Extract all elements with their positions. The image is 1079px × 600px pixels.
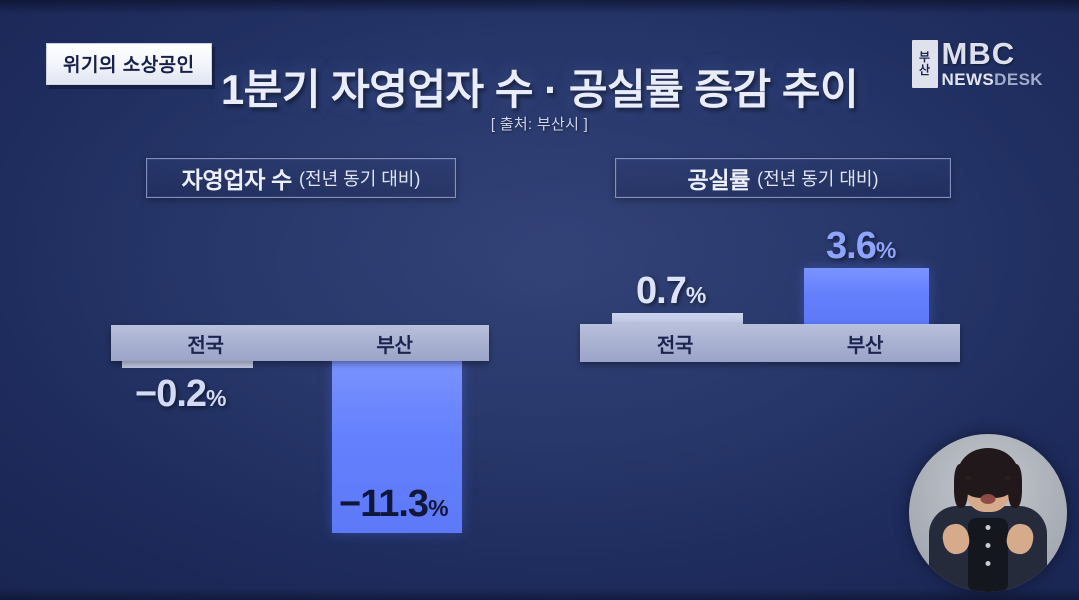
value-number: 0.7	[636, 270, 686, 312]
panel-header-sub: (전년 동기 대비)	[299, 165, 420, 191]
panel-header-strong: 자영업자 수	[182, 161, 292, 195]
bar-self-employed-nationwide	[122, 360, 253, 368]
value-percent: %	[686, 282, 706, 308]
interpreter-eye-left	[965, 476, 972, 480]
interpreter-button	[986, 561, 991, 566]
axis-label-nationwide: 전국	[580, 324, 770, 362]
value-number: 3.6	[826, 225, 876, 267]
value-percent: %	[206, 385, 226, 411]
value-number: −0.2	[135, 373, 206, 415]
interpreter-button	[986, 525, 991, 530]
source-credit: [ 출처: 부산시 ]	[0, 113, 1079, 134]
value-label-vacancy-nationwide: 0.7%	[636, 272, 706, 310]
value-percent: %	[876, 237, 896, 263]
panel-header-strong: 공실률	[688, 161, 751, 195]
axis-label-busan: 부산	[300, 325, 489, 361]
axis-strip-vacancy-rate: 전국 부산	[580, 324, 960, 362]
axis-strip-self-employed: 전국 부산	[111, 325, 489, 361]
value-number: −11.3	[339, 483, 428, 525]
sign-language-interpreter-overlay	[909, 434, 1067, 592]
logo-text: MBC NEWSDESK	[942, 40, 1043, 88]
region-badge: 부 산	[912, 40, 938, 88]
broadcast-graphic-screen: 위기의 소상공인 1분기 자영업자 수 · 공실률 증감 추이 [ 출처: 부산…	[0, 0, 1079, 600]
region-badge-line2: 산	[919, 64, 930, 77]
panel-header-sub: (전년 동기 대비)	[757, 165, 878, 191]
panel-header-self-employed: 자영업자 수 (전년 동기 대비)	[146, 158, 456, 198]
value-label-self-employed-nationwide: −0.2%	[135, 375, 226, 413]
network-logo: 부 산 MBC NEWSDESK	[912, 40, 1043, 88]
program-name-part2: DESK	[994, 70, 1043, 89]
network-name: MBC	[942, 40, 1043, 69]
interpreter-button	[986, 543, 991, 548]
program-name: NEWSDESK	[942, 71, 1043, 88]
program-name-part1: NEWS	[942, 70, 995, 89]
value-percent: %	[428, 495, 448, 521]
region-badge-line1: 부	[919, 51, 930, 64]
topic-tag: 위기의 소상공인	[46, 43, 212, 85]
axis-label-nationwide: 전국	[111, 325, 300, 361]
bar-vacancy-busan	[804, 268, 929, 325]
axis-label-busan: 부산	[770, 324, 960, 362]
panel-header-vacancy-rate: 공실률 (전년 동기 대비)	[615, 158, 951, 198]
interpreter-hair	[958, 448, 1018, 498]
interpreter-mouth	[981, 494, 996, 504]
value-label-self-employed-busan: −11.3%	[339, 485, 449, 523]
interpreter-eye-right	[1004, 476, 1011, 480]
value-label-vacancy-busan: 3.6%	[826, 227, 896, 265]
